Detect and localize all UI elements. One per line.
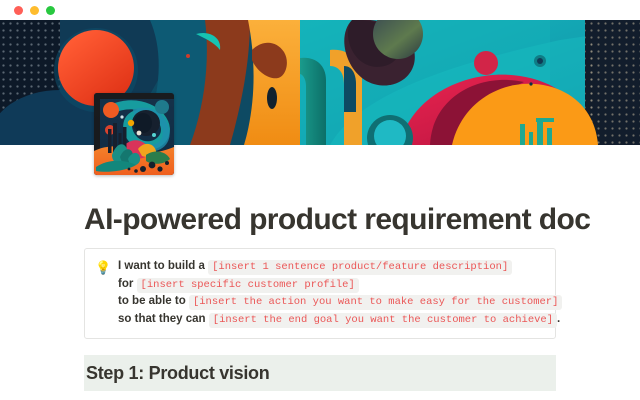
maximize-window-button[interactable]	[46, 6, 55, 15]
app-window: AI-powered product requirement doc 💡 I w…	[0, 0, 640, 400]
section-heading-band[interactable]: Step 1: Product vision	[84, 355, 556, 391]
callout-line-4-suffix: .	[557, 313, 560, 325]
callout-block[interactable]: 💡 I want to build a [insert 1 sentence p…	[84, 248, 556, 339]
page-body: AI-powered product requirement doc 💡 I w…	[0, 145, 640, 400]
callout-line-2: for [insert specific customer profile]	[118, 276, 562, 294]
section-heading-step-1[interactable]: Step 1: Product vision	[84, 362, 269, 384]
callout-line-4-placeholder[interactable]: [insert the end goal you want the custom…	[209, 313, 557, 328]
callout-line-3: to be able to [insert the action you wan…	[118, 293, 562, 311]
callout-line-1-prefix: I want to build a	[118, 260, 205, 272]
callout-line-3-placeholder[interactable]: [insert the action you want to make easy…	[189, 295, 562, 310]
callout-line-3-prefix: to be able to	[118, 295, 186, 307]
minimize-window-button[interactable]	[30, 6, 39, 15]
callout-line-4-prefix: so that they can	[118, 313, 206, 325]
close-window-button[interactable]	[14, 6, 23, 15]
window-titlebar	[0, 0, 640, 20]
callout-line-4: so that they can [insert the end goal yo…	[118, 311, 562, 329]
lightbulb-icon: 💡	[95, 259, 111, 276]
callout-text[interactable]: I want to build a [insert 1 sentence pro…	[118, 258, 562, 328]
callout-line-2-prefix: for	[118, 278, 133, 290]
callout-line-1-placeholder[interactable]: [insert 1 sentence product/feature descr…	[208, 260, 512, 275]
callout-line-2-placeholder[interactable]: [insert specific customer profile]	[137, 278, 359, 293]
page-title[interactable]: AI-powered product requirement doc	[84, 202, 564, 238]
callout-line-1: I want to build a [insert 1 sentence pro…	[118, 258, 562, 276]
page-icon[interactable]	[94, 93, 174, 175]
